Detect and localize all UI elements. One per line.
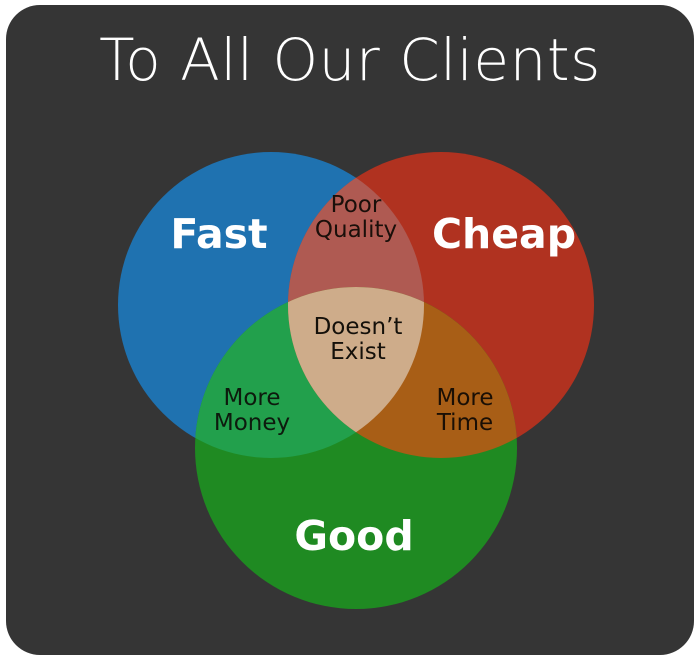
venn-svg	[6, 5, 694, 655]
poster-card: To All Our Clients	[6, 5, 694, 655]
venn-poster: To All Our Clients	[0, 0, 700, 659]
venn-diagram: Fast Cheap Good Poor Quality More Money …	[6, 5, 694, 655]
